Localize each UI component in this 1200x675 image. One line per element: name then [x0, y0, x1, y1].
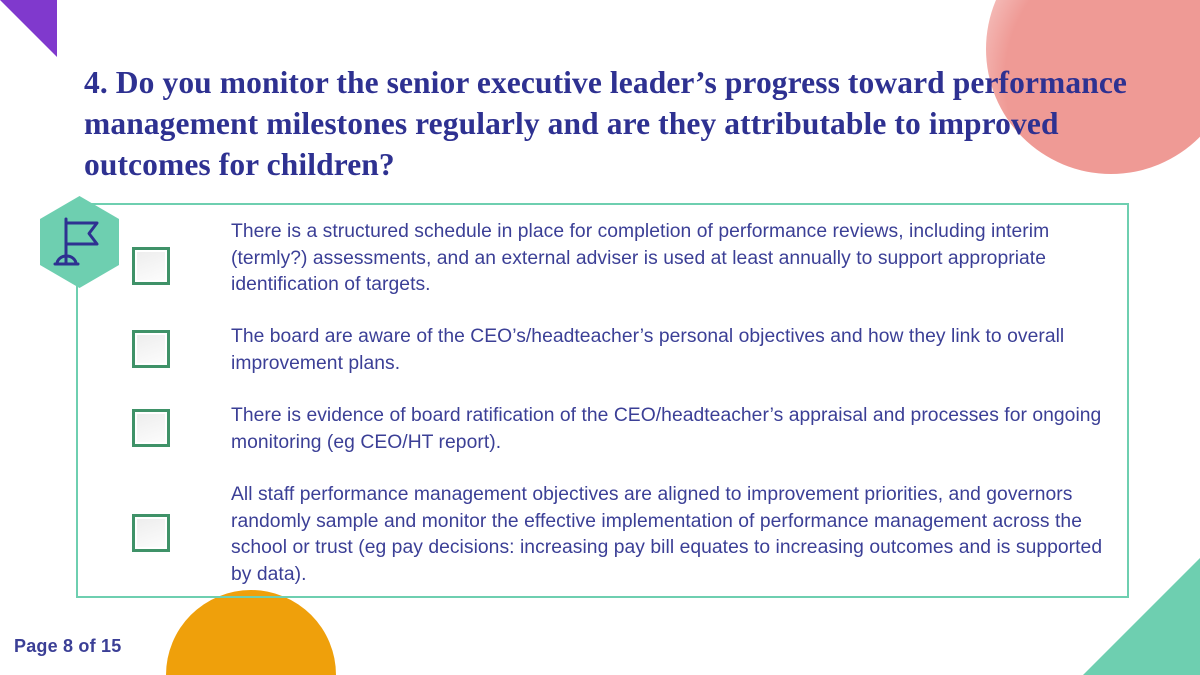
- page-number-label: Page 8 of 15: [14, 636, 121, 657]
- flag-badge: [40, 196, 119, 288]
- checklist-item[interactable]: There is a structured schedule in place …: [76, 219, 1129, 299]
- checklist-item-label: The board are aware of the CEO’s/headtea…: [231, 324, 1119, 377]
- checkbox-item-4[interactable]: [132, 514, 170, 552]
- decorative-semicircle-bottom: [166, 590, 336, 675]
- checkbox-item-2[interactable]: [132, 330, 170, 368]
- slide: 4. Do you monitor the senior executive l…: [0, 0, 1200, 675]
- decorative-triangle-top-left: [0, 0, 57, 57]
- checklist-item[interactable]: The board are aware of the CEO’s/headtea…: [76, 324, 1129, 377]
- checkbox-item-3[interactable]: [132, 409, 170, 447]
- checkbox-item-1[interactable]: [132, 247, 170, 285]
- checklist-item[interactable]: There is evidence of board ratification …: [76, 403, 1129, 456]
- checklist: There is a structured schedule in place …: [76, 203, 1129, 598]
- flag-icon: [40, 196, 119, 288]
- page-title: 4. Do you monitor the senior executive l…: [84, 62, 1144, 185]
- checklist-item[interactable]: All staff performance management objecti…: [76, 482, 1129, 588]
- checklist-item-label: There is evidence of board ratification …: [231, 403, 1119, 456]
- checklist-item-label: All staff performance management objecti…: [231, 482, 1119, 588]
- checklist-item-label: There is a structured schedule in place …: [231, 219, 1119, 299]
